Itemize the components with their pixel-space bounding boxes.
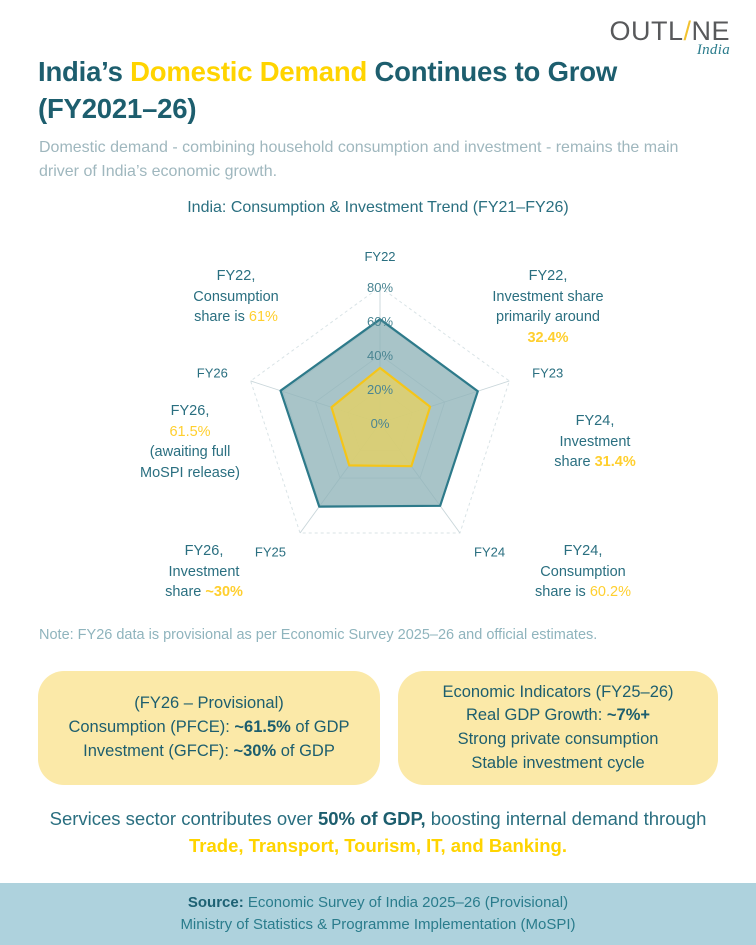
radar-axis-label-FY26: FY26 — [197, 366, 228, 381]
radar-axis-label-FY23: FY23 — [532, 366, 563, 381]
card-text: Investment (GFCF): — [83, 742, 233, 760]
card-line: Investment (GFCF): ~30% of GDP — [83, 740, 335, 764]
radar-axis-label-FY22: FY22 — [364, 249, 395, 264]
card-value: ~30% — [234, 742, 277, 760]
radar-tick-60%: 60% — [367, 314, 393, 329]
card-economic-indicators: Economic Indicators (FY25–26) Real GDP G… — [398, 671, 718, 785]
annotation-fy24-consumption: FY24, Consumption share is 60.2% — [488, 541, 678, 603]
ann-line: Investment — [560, 434, 631, 450]
card-line: Stable investment cycle — [471, 752, 644, 776]
ann-line: primarily around — [496, 309, 600, 325]
radar-tick-0%: 0% — [371, 416, 390, 431]
services-statement: Services sector contributes over 50% of … — [48, 806, 708, 860]
services-highlight: Trade, Transport, Tourism, IT, and Banki… — [189, 835, 567, 856]
card-text: of GDP — [291, 718, 350, 736]
services-text: boosting internal demand through — [426, 808, 707, 829]
ann-line: MoSPI release) — [140, 465, 240, 481]
annotation-fy26-investment: FY26, Investment share ~30% — [112, 541, 296, 603]
ann-line: FY22, — [529, 268, 568, 284]
ann-line: Consumption — [540, 564, 625, 580]
ann-line: FY24, — [576, 413, 615, 429]
card-text: Stable investment cycle — [471, 754, 644, 772]
ann-value: 61% — [249, 309, 278, 325]
ann-line: FY24, — [564, 543, 603, 559]
card-text: Economic Indicators (FY25–26) — [442, 683, 673, 701]
card-text: Real GDP Growth: — [466, 706, 607, 724]
annotation-fy24-investment: FY24, Investment share 31.4% — [500, 411, 690, 473]
card-text: Strong private consumption — [458, 730, 659, 748]
ann-value: 31.4% — [595, 454, 636, 470]
ann-line: share is — [535, 584, 590, 600]
footer-text: Ministry of Statistics & Programme Imple… — [180, 916, 575, 933]
annotation-fy26-provisional: FY26, 61.5% (awaiting full MoSPI release… — [92, 401, 288, 483]
card-fy26-provisional: (FY26 – Provisional) Consumption (PFCE):… — [38, 671, 380, 785]
title-highlight: Domestic Demand — [130, 56, 367, 87]
ann-value: ~30% — [205, 584, 243, 600]
card-text: (FY26 – Provisional) — [134, 694, 283, 712]
ann-line: share is — [194, 309, 249, 325]
ann-value: 32.4% — [527, 330, 568, 346]
card-value: ~61.5% — [234, 718, 290, 736]
summary-cards: (FY26 – Provisional) Consumption (PFCE):… — [0, 671, 756, 785]
services-text: Services sector contributes over — [50, 808, 318, 829]
footer-line-1: Source: Economic Survey of India 2025–26… — [188, 892, 568, 915]
card-line: Strong private consumption — [458, 728, 659, 752]
source-footer: Source: Economic Survey of India 2025–26… — [0, 883, 756, 945]
card-text: Consumption (PFCE): — [68, 718, 234, 736]
footer-text: Economic Survey of India 2025–26 (Provis… — [244, 894, 568, 911]
radar-tick-40%: 40% — [367, 348, 393, 363]
page-subtitle: Domestic demand - combining household co… — [39, 136, 719, 185]
ann-line: Consumption — [193, 289, 278, 305]
footer-label: Source: — [188, 894, 244, 911]
ann-line: Investment share — [492, 289, 603, 305]
logo-word-a: OUTL — [609, 16, 683, 46]
card-line: Real GDP Growth: ~7%+ — [466, 704, 650, 728]
card-value: ~7%+ — [607, 706, 650, 724]
annotation-fy22-investment: FY22, Investment share primarily around … — [448, 266, 648, 348]
ann-line: FY22, — [217, 268, 256, 284]
radar-tick-80%: 80% — [367, 280, 393, 295]
ann-line: (awaiting full — [150, 444, 231, 460]
footer-line-2: Ministry of Statistics & Programme Imple… — [180, 914, 575, 937]
radar-tick-20%: 20% — [367, 382, 393, 397]
radar-chart-block: India: Consumption & Investment Trend (F… — [0, 196, 756, 626]
ann-line: FY26, — [185, 543, 224, 559]
logo-wordmark: OUTL/NE — [609, 18, 730, 45]
ann-line: FY26, — [171, 403, 210, 419]
card-line: (FY26 – Provisional) — [134, 692, 283, 716]
annotation-fy22-consumption: FY22, Consumption share is 61% — [148, 266, 324, 328]
card-text: of GDP — [276, 742, 335, 760]
ann-line: share — [554, 454, 594, 470]
ann-line: Investment — [169, 564, 240, 580]
title-part-1: India’s — [38, 56, 130, 87]
ann-value: 61.5% — [169, 424, 210, 440]
card-line: Consumption (PFCE): ~61.5% of GDP — [68, 716, 349, 740]
ann-value: 60.2% — [590, 584, 631, 600]
ann-line: share — [165, 584, 205, 600]
page-title: India’s Domestic Demand Continues to Gro… — [38, 54, 698, 127]
chart-note: Note: FY26 data is provisional as per Ec… — [39, 627, 729, 643]
infographic-page: OUTL/NE India India’s Domestic Demand Co… — [0, 0, 756, 945]
card-line: Economic Indicators (FY25–26) — [442, 681, 673, 705]
services-bold: 50% of GDP, — [318, 808, 426, 829]
outline-india-logo: OUTL/NE India — [609, 18, 730, 58]
